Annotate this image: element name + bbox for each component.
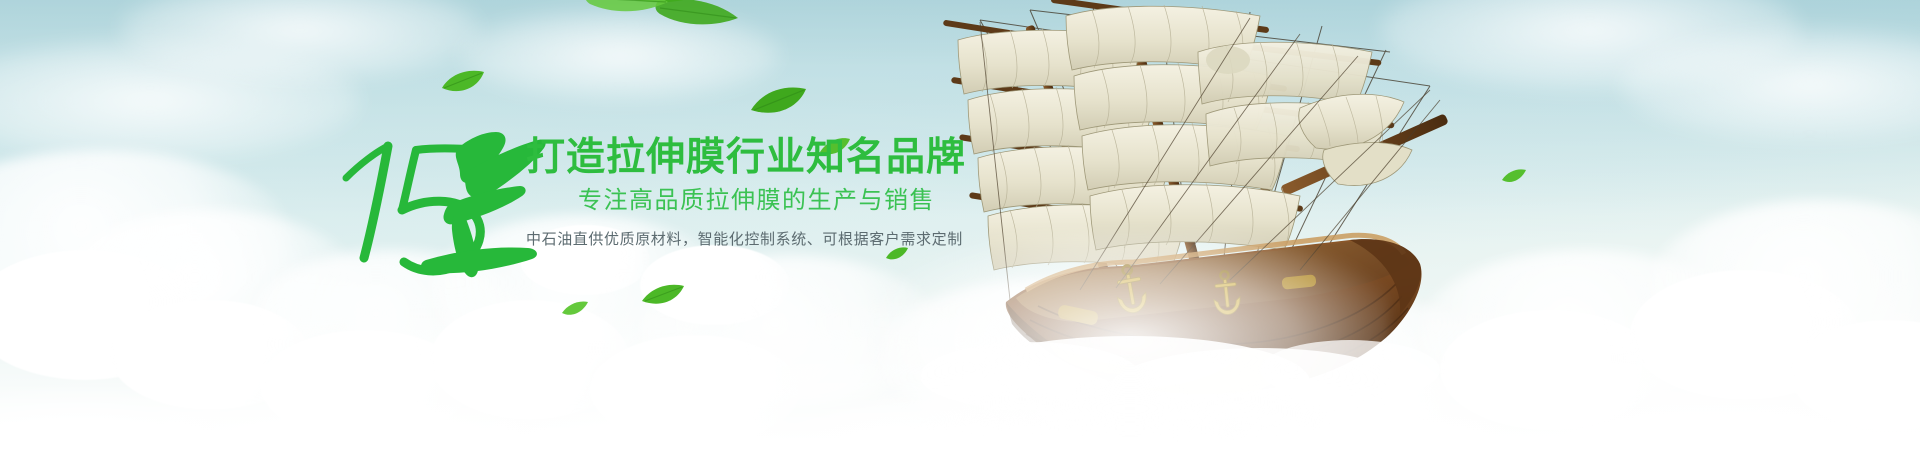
cloud-crisp — [590, 335, 800, 445]
cloud-crisp — [430, 300, 630, 420]
cloud-puff — [1650, 200, 1920, 370]
leaf-branch-icon — [470, 0, 750, 80]
cloud-crisp — [1440, 310, 1660, 430]
tagline: 中石油直供优质原材料，智能化控制系统、可根据客户需求定制 — [526, 232, 963, 247]
banner-text-block: 打造拉伸膜行业知名品牌 专注高品质拉伸膜的生产与销售 中石油直供优质原材料，智能… — [330, 112, 950, 292]
headline: 打造拉伸膜行业知名品牌 — [526, 138, 966, 177]
leaf-icon — [1500, 168, 1528, 185]
cloud-puff — [0, 150, 290, 320]
cloud-crisp — [260, 330, 470, 440]
cloud-crisp — [0, 250, 200, 380]
cloud-crisp — [110, 300, 310, 410]
cloud-wisp — [460, 10, 780, 100]
cloud-crisp — [1790, 320, 1920, 430]
cloud-wisp — [1620, 30, 1920, 140]
cloud-wisp — [0, 40, 360, 160]
leaf-icon — [560, 300, 590, 318]
cloud-puff — [60, 210, 360, 360]
cloud-crisp — [1630, 270, 1860, 400]
promo-banner: 打造拉伸膜行业知名品牌 专注高品质拉伸膜的生产与销售 中石油直供优质原材料，智能… — [0, 0, 1920, 475]
cloud-wisp — [120, 0, 480, 80]
subheadline: 专注高品质拉伸膜的生产与销售 — [578, 189, 935, 213]
leaf-icon — [438, 68, 488, 98]
